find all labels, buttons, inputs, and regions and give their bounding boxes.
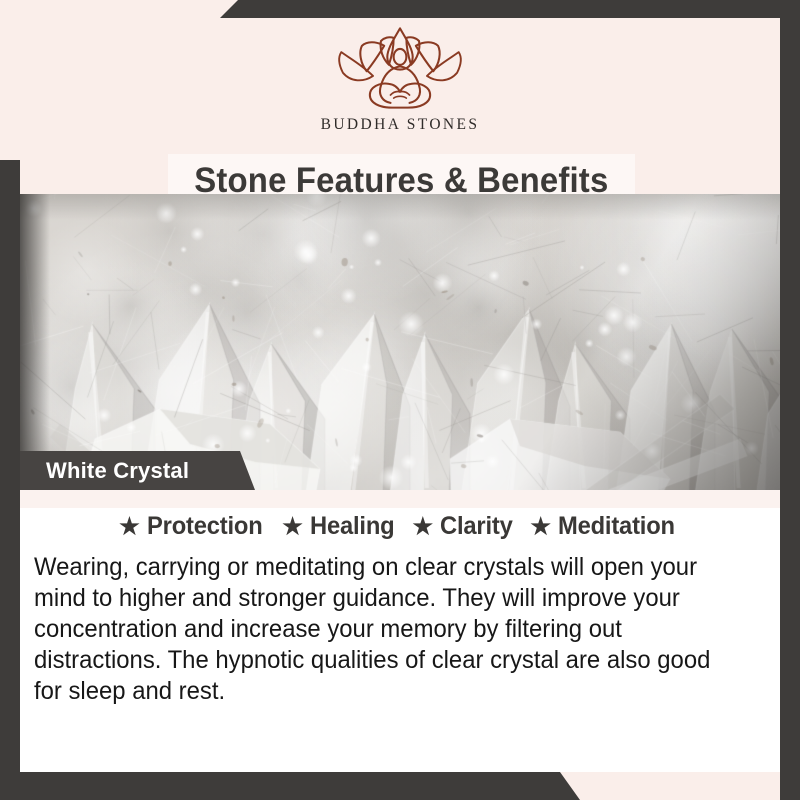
star-icon: ★ <box>413 515 433 538</box>
benefit-label: Healing <box>310 512 394 541</box>
star-icon: ★ <box>282 515 302 538</box>
star-icon: ★ <box>530 515 550 538</box>
crystal-photo-canvas <box>20 194 780 490</box>
panel-top-tint <box>20 490 780 508</box>
bottom-accent-band <box>0 772 800 800</box>
white-crystal-photo <box>20 194 780 490</box>
brand-lockup: BUDDHA STONES <box>20 22 780 134</box>
stone-name-label: White Crystal <box>46 458 189 484</box>
benefit-item: ★Healing <box>282 512 398 541</box>
stone-name-badge: White Crystal <box>20 451 255 490</box>
left-accent-strip <box>0 160 20 800</box>
benefit-label: Protection <box>147 512 263 541</box>
benefits-row: ★Protection★Healing★Clarity★Meditation <box>20 512 780 541</box>
star-icon: ★ <box>119 515 139 538</box>
benefit-item: ★Meditation <box>530 512 680 541</box>
lotus-meditation-icon <box>320 22 480 114</box>
header: BUDDHA STONES Stone Features & Benefits <box>20 18 780 194</box>
content-panel: ★Protection★Healing★Clarity★Meditation W… <box>20 490 780 772</box>
right-accent-strip <box>780 0 800 800</box>
benefit-item: ★Protection <box>119 512 268 541</box>
benefit-label: Clarity <box>440 512 513 541</box>
benefit-item: ★Clarity <box>413 512 517 541</box>
top-accent-band <box>0 0 800 18</box>
benefit-label: Meditation <box>558 512 675 541</box>
stone-description: Wearing, carrying or meditating on clear… <box>34 552 739 707</box>
brand-name: BUDDHA STONES <box>321 116 480 134</box>
poster: BUDDHA STONES Stone Features & Benefits … <box>0 0 800 800</box>
